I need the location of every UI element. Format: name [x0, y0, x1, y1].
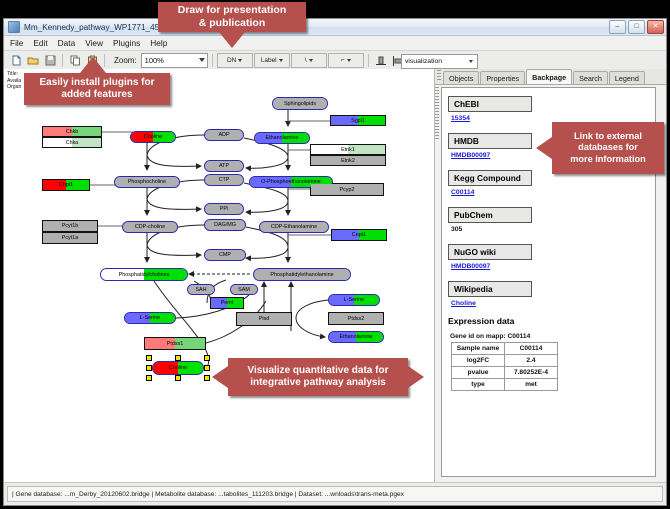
node-label: Cept1	[352, 232, 366, 238]
node-label: Sphingolipids	[284, 101, 316, 107]
gene-id-line: Gene id on mapp: C00114	[450, 333, 655, 340]
node-label: CDP-Ethanolamine	[271, 224, 317, 230]
window-controls[interactable]: – □ ✕	[609, 20, 664, 34]
metabolite-node[interactable]: ATP	[204, 160, 244, 172]
metabolite-node[interactable]: ADP	[204, 129, 244, 141]
node-label: Ethanolamine	[266, 135, 299, 141]
cell-value: C00114	[505, 343, 558, 355]
metabolite-node[interactable]: CMP	[204, 249, 246, 261]
backpage-value-pubchem: 305	[451, 226, 655, 233]
datanode-combo[interactable]: DN	[217, 53, 253, 68]
panel-resize-handle[interactable]	[435, 87, 439, 139]
menu-data[interactable]: Data	[57, 38, 77, 48]
callout-plugins-line1: Easily install plugins for	[39, 77, 154, 89]
chevron-down-icon	[279, 59, 283, 62]
node-label: Chka	[66, 140, 79, 146]
node-label: O-Phosphoethanolamine	[261, 179, 321, 185]
node-label: Ptdss2	[348, 316, 364, 322]
pathway-canvas[interactable]: Title: Availa Organ	[4, 69, 435, 483]
metabolite-node[interactable]: SAH	[187, 284, 215, 295]
menu-help[interactable]: Help	[149, 38, 168, 48]
callout-plugins-arrow	[80, 57, 106, 73]
cell-label: pvalue	[452, 367, 505, 379]
node-label: Pcyp2	[340, 187, 355, 193]
node-label: Pisd	[259, 316, 270, 322]
cell-value: 7.80252E-4	[505, 367, 558, 379]
node-label: Choline	[144, 134, 162, 140]
callout-visualize: Visualize quantitative data for integrat…	[228, 358, 408, 396]
gene-node[interactable]: Chpt1	[42, 179, 90, 191]
open-folder-icon[interactable]	[25, 53, 41, 69]
metabolite-node[interactable]: Phosphocholine	[114, 176, 180, 188]
gene-node[interactable]: Etnk1	[310, 144, 386, 155]
gene-node[interactable]: Ptdss2	[328, 312, 384, 325]
callout-link-arrow	[536, 137, 552, 159]
callout-link: Link to external databases for more info…	[552, 122, 664, 174]
node-label: CDP-choline	[135, 224, 165, 230]
node-label: ADP	[218, 132, 229, 138]
status-text: | Gene database: ...m_Derby_20120602.bri…	[7, 486, 663, 502]
zoom-combo[interactable]: 100%	[141, 53, 208, 68]
menu-plugins[interactable]: Plugins	[112, 38, 141, 48]
backpage-header-pubchem: PubChem	[448, 207, 532, 223]
cell-value: 2.4	[505, 355, 558, 367]
metabolite-node[interactable]: L-Serine	[328, 294, 380, 306]
arrow-combo[interactable]: ⌐	[328, 53, 364, 68]
expression-data-title: Expression data	[448, 316, 655, 326]
node-label: CTP	[219, 177, 230, 183]
metabolite-node[interactable]: CDP-choline	[122, 221, 178, 233]
node-label: Ptdss1	[167, 341, 183, 347]
backpage-header-nugo: NuGO wiki	[448, 244, 532, 260]
callout-draw: Draw for presentation & publication	[158, 2, 306, 32]
node-label: Pemt	[221, 300, 234, 306]
toolbar-separator	[62, 54, 63, 67]
tab-backpage[interactable]: Backpage	[526, 69, 572, 84]
callout-visualize-arrow-left	[212, 366, 228, 388]
node-label: Etnk1	[341, 147, 355, 153]
close-button[interactable]: ✕	[647, 20, 664, 34]
panel-drag-handle[interactable]	[437, 70, 441, 82]
node-label: DAG/MG	[214, 222, 236, 228]
node-label: PPi	[220, 206, 228, 212]
visualization-value: visualization	[405, 58, 442, 65]
line-combo-label: \	[305, 57, 307, 64]
backpage-header-wikipedia: Wikipedia	[448, 281, 532, 297]
node-label: Sgpl1	[351, 118, 365, 124]
gene-node[interactable]: Sgpl1	[330, 115, 386, 126]
new-file-icon[interactable]	[8, 53, 24, 69]
metabolite-node[interactable]: Phosphatidylcholines	[100, 268, 188, 281]
node-label: Phosphatidylethanolamine	[270, 272, 333, 278]
table-row: pvalue 7.80252E-4	[452, 367, 558, 379]
minimize-button[interactable]: –	[609, 20, 626, 34]
cell-label: type	[452, 379, 505, 391]
metabolite-node[interactable]: L-Serine	[124, 312, 176, 324]
table-row: type met	[452, 379, 558, 391]
node-label: Chkb	[66, 129, 79, 135]
backpage-link-chebi[interactable]: 15354	[451, 115, 655, 122]
metabolite-node[interactable]: Sphingolipids	[272, 97, 328, 110]
gene-node[interactable]: Pcyp2	[310, 183, 384, 196]
cell-label: log2FC	[452, 355, 505, 367]
gene-node[interactable]: Chkb	[42, 126, 102, 137]
metabolite-node[interactable]: Phosphatidylethanolamine	[253, 268, 351, 281]
node-label: Phosphocholine	[128, 179, 166, 185]
tab-properties[interactable]: Properties	[480, 71, 525, 84]
backpage-link-nugo[interactable]: HMDB00097	[451, 263, 655, 270]
node-label: L-Serine	[344, 297, 364, 303]
menu-bar: File Edit Data View Plugins Help	[4, 36, 666, 51]
node-label: CMP	[219, 252, 231, 258]
callout-visualize-line2: integrative pathway analysis	[250, 377, 386, 389]
node-label: SAM	[238, 287, 250, 293]
datanode-combo-label: DN	[227, 57, 236, 64]
gene-node[interactable]: Pemt	[210, 297, 244, 309]
node-label: Phosphatidylcholines	[119, 272, 170, 278]
menu-file[interactable]: File	[9, 38, 24, 48]
callout-link-line3: more information	[570, 154, 646, 165]
app-icon	[8, 21, 20, 33]
metabolite-node[interactable]: CTP	[204, 174, 244, 186]
align-top-icon[interactable]	[373, 53, 389, 69]
metabolite-node[interactable]: Ethanolamine	[328, 331, 384, 343]
chevron-down-icon	[469, 60, 473, 63]
metabolite-node[interactable]: CDP-Ethanolamine	[259, 221, 329, 233]
chevron-down-icon	[238, 59, 242, 62]
arrow-combo-label: ⌐	[341, 57, 345, 64]
line-combo[interactable]: \	[291, 53, 327, 68]
chevron-down-icon	[309, 59, 313, 62]
save-disk-icon[interactable]	[42, 53, 58, 69]
expression-table: Sample name C00114 log2FC 2.4 pvalue 7.8…	[451, 342, 558, 391]
label-combo-label: Label	[261, 57, 277, 64]
cell-label: Sample name	[452, 343, 505, 355]
metabolite-node[interactable]: Ethanolamine	[254, 132, 310, 144]
menu-view[interactable]: View	[84, 38, 104, 48]
label-combo[interactable]: Label	[254, 53, 290, 68]
backpage-header-chebi: ChEBI	[448, 96, 532, 112]
node-label: Pcyt1a	[62, 235, 78, 241]
selection-handles[interactable]	[148, 357, 208, 379]
gene-node[interactable]: Pisd	[236, 312, 292, 326]
backpage-header-hmdb: HMDB	[448, 133, 532, 149]
callout-visualize-line1: Visualize quantitative data for	[248, 365, 389, 377]
backpage-link-kegg[interactable]: C00114	[451, 189, 655, 196]
node-label: ATP	[219, 163, 229, 169]
table-row: log2FC 2.4	[452, 355, 558, 367]
backpage-header-kegg: Kegg Compound	[448, 170, 532, 186]
metabolite-node[interactable]: Choline	[130, 131, 176, 143]
callout-plugins-line2: added features	[61, 89, 132, 101]
table-row: Sample name C00114	[452, 343, 558, 355]
tab-search[interactable]: Search	[573, 71, 608, 84]
gene-node[interactable]: Pcyt1a	[42, 232, 98, 244]
gene-node[interactable]: Etnk2	[310, 155, 386, 166]
node-label: Chpt1	[59, 182, 73, 188]
maximize-button[interactable]: □	[628, 20, 645, 34]
panel-tabstrip: Objects Properties Backpage Search Legen…	[435, 69, 666, 85]
metabolite-node[interactable]: PPi	[204, 203, 244, 215]
gene-node[interactable]: Pcyt1b	[42, 220, 98, 232]
tab-objects[interactable]: Objects	[443, 71, 479, 84]
status-bar: | Gene database: ...m_Derby_20120602.bri…	[4, 482, 666, 505]
callout-draw-arrow	[219, 32, 245, 48]
node-label: Ethanolamine	[340, 334, 373, 340]
gene-node[interactable]: Chka	[42, 137, 102, 148]
backpage-link-wikipedia[interactable]: Choline	[451, 300, 655, 307]
metabolite-node[interactable]: SAM	[230, 284, 258, 295]
toolbar-separator	[368, 54, 369, 67]
toolbar-separator	[212, 54, 213, 67]
callout-draw-line1: Draw for presentation	[178, 4, 287, 17]
callout-link-line1: Link to external	[574, 131, 642, 142]
node-label: Pcyt1b	[62, 223, 78, 229]
cell-value: met	[505, 379, 558, 391]
chevron-down-icon	[199, 58, 205, 62]
menu-edit[interactable]: Edit	[32, 38, 48, 48]
callout-plugins: Easily install plugins for added feature…	[24, 73, 170, 105]
node-label: L-Serine	[140, 315, 160, 321]
zoom-value: 100%	[145, 56, 164, 65]
tab-legend[interactable]: Legend	[609, 71, 645, 84]
visualization-combo[interactable]: visualization	[401, 54, 478, 69]
title-bar: Mm_Kennedy_pathway_WP1771_45176.gpml - P…	[4, 19, 666, 36]
callout-link-line2: databases for	[578, 142, 638, 153]
metabolite-node[interactable]: DAG/MG	[204, 219, 246, 231]
gene-node[interactable]: Cept1	[331, 229, 387, 241]
chevron-down-icon	[347, 59, 351, 62]
zoom-label: Zoom:	[114, 56, 137, 65]
node-label: SAH	[195, 287, 206, 293]
callout-visualize-arrow-right	[408, 366, 424, 388]
gene-node[interactable]: Ptdss1	[144, 337, 206, 350]
node-label: Etnk2	[341, 158, 355, 164]
callout-draw-line2: & publication	[199, 17, 266, 30]
